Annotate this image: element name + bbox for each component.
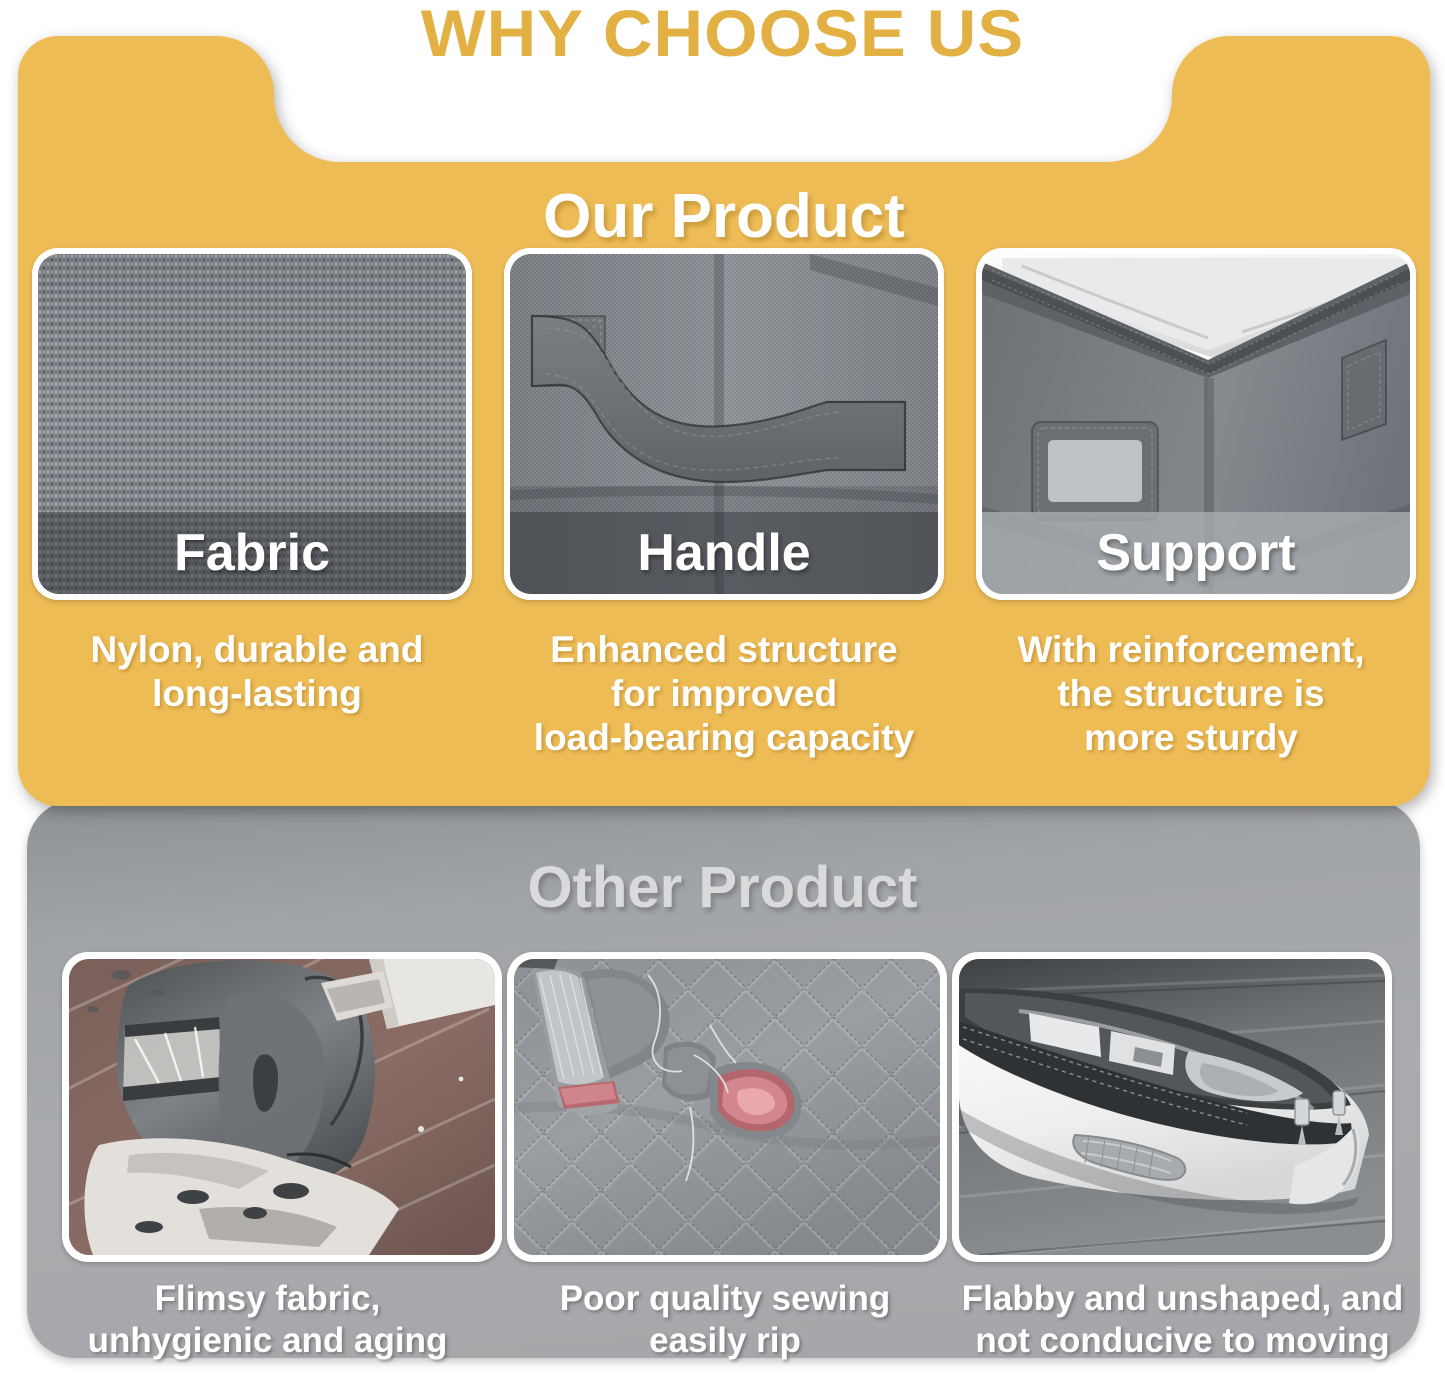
other-product-caption-row: Flimsy fabric, unhygienic and aging Poor… (40, 1278, 1410, 1362)
feature-tile-support[interactable]: Support (976, 248, 1416, 600)
fabric-image: Fabric (38, 254, 466, 594)
other-tile-torn-bag[interactable] (62, 952, 502, 1262)
torn-bag-image (69, 959, 495, 1255)
other-tile-ripped-quilt[interactable] (507, 952, 947, 1262)
feature-tile-handle[interactable]: Handle (504, 248, 944, 600)
feature-caption-fabric: Nylon, durable and long-lasting (32, 628, 482, 760)
fabric-tile-label: Fabric (38, 512, 466, 594)
flabby-bag-image (959, 959, 1385, 1255)
other-caption-torn-bag: Flimsy fabric, unhygienic and aging (40, 1278, 495, 1362)
support-image: Support (982, 254, 1410, 594)
other-caption-flabby-bag: Flabby and unshaped, and not conducive t… (955, 1278, 1410, 1362)
other-product-title: Other Product (0, 855, 1445, 921)
our-product-caption-row: Nylon, durable and long-lasting Enhanced… (32, 628, 1416, 760)
ripped-quilt-image (514, 959, 940, 1255)
other-tile-flabby-bag[interactable] (952, 952, 1392, 1262)
page-title: WHY CHOOSE US (0, 0, 1445, 66)
handle-tile-label: Handle (510, 512, 938, 594)
feature-tile-fabric[interactable]: Fabric (32, 248, 472, 600)
other-product-tile-row (62, 952, 1392, 1262)
handle-image: Handle (510, 254, 938, 594)
other-caption-ripped-quilt: Poor quality sewing easily rip (498, 1278, 953, 1362)
feature-caption-support: With reinforcement, the structure is mor… (966, 628, 1416, 760)
our-product-title: Our Product (18, 182, 1430, 252)
our-product-tile-row: Fabric (32, 248, 1416, 600)
feature-caption-handle: Enhanced structure for improved load-bea… (499, 628, 949, 760)
our-product-panel: Our Product Fabric (18, 36, 1430, 806)
support-tile-label: Support (982, 512, 1410, 594)
